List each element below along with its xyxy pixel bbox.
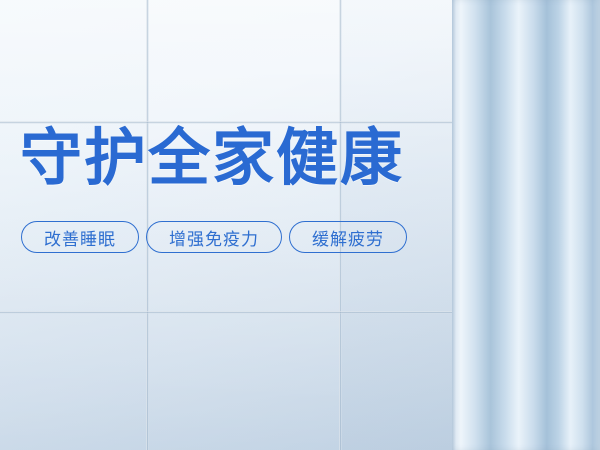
promo-banner: 守护全家健康 改善睡眠 增强免疫力 缓解疲劳 bbox=[0, 0, 600, 450]
banner-content: 守护全家健康 改善睡眠 增强免疫力 缓解疲劳 bbox=[0, 0, 600, 450]
headline-text: 守护全家健康 bbox=[20, 122, 404, 194]
benefit-badge-improve-sleep[interactable]: 改善睡眠 bbox=[21, 221, 139, 253]
benefit-badge-row: 改善睡眠 增强免疫力 缓解疲劳 bbox=[21, 221, 407, 253]
benefit-badge-boost-immunity[interactable]: 增强免疫力 bbox=[146, 221, 282, 253]
benefit-badge-relieve-fatigue[interactable]: 缓解疲劳 bbox=[289, 221, 407, 253]
